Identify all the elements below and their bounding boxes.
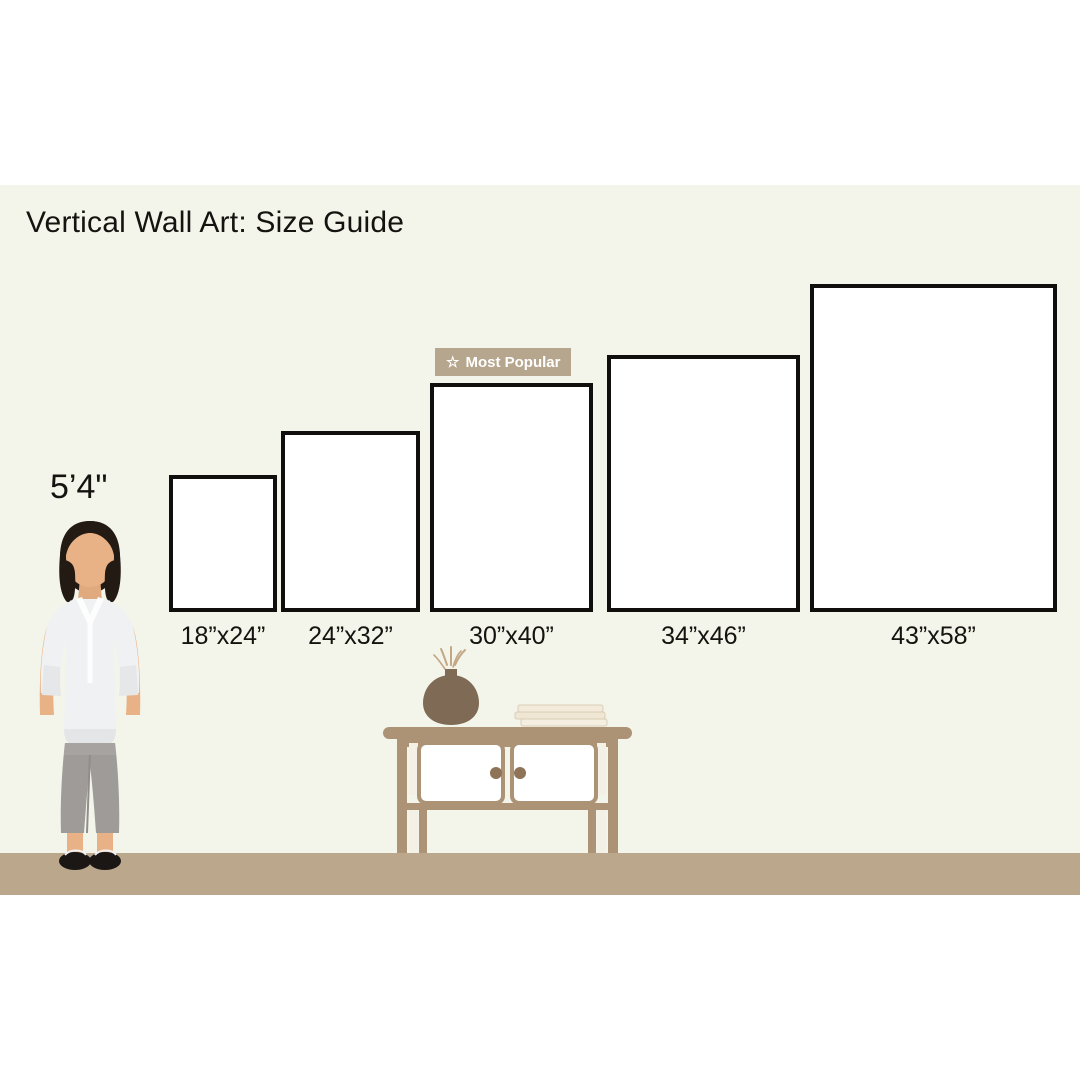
shoe-icon <box>59 851 121 871</box>
cabinet-knob-left <box>490 767 502 779</box>
frame-label-43x58: 43”x58” <box>810 622 1057 651</box>
most-popular-badge-label: Most Popular <box>465 354 560 371</box>
height-reference-label: 5’4" <box>50 468 107 507</box>
most-popular-badge[interactable]: ☆ Most Popular <box>435 348 571 376</box>
book-stack <box>515 705 607 726</box>
cabinet-knob-right <box>514 767 526 779</box>
frame-30x40[interactable] <box>430 383 593 612</box>
frame-24x32[interactable] <box>281 431 420 612</box>
page-title: Vertical Wall Art: Size Guide <box>26 206 404 240</box>
scale-reference-person <box>30 515 150 883</box>
size-guide-illustration: Vertical Wall Art: Size Guide 5’4" <box>0 0 1080 1080</box>
frame-43x58[interactable] <box>810 284 1057 612</box>
frame-18x24[interactable] <box>169 475 277 612</box>
star-outline-icon: ☆ <box>446 355 459 370</box>
floor-band <box>0 853 1080 895</box>
console-table <box>375 645 640 857</box>
vase-with-stems <box>423 647 479 725</box>
frame-label-18x24: 18”x24” <box>169 622 277 651</box>
frame-34x46[interactable] <box>607 355 800 612</box>
